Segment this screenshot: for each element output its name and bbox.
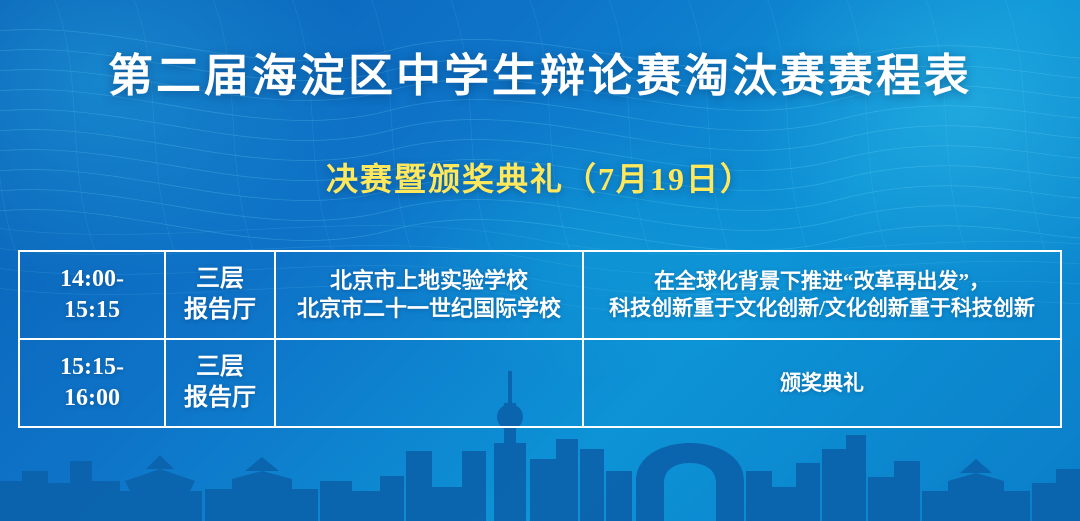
cell-time: 14:00- 15:15	[19, 251, 165, 339]
mesh-band-top	[0, 0, 1080, 250]
cell-time: 15:15- 16:00	[19, 339, 165, 427]
cell-schools: 北京市上地实验学校 北京市二十一世纪国际学校	[275, 251, 583, 339]
room-line-1: 三层	[170, 352, 270, 383]
title-block: 第二届海淀区中学生辩论赛淘汰赛赛程表	[0, 52, 1080, 102]
room-line-2: 报告厅	[170, 383, 270, 414]
time-line-1: 14:00-	[24, 264, 160, 295]
poster-canvas: 第二届海淀区中学生辩论赛淘汰赛赛程表 决赛暨颁奖典礼（7月19日）	[0, 0, 1080, 521]
table-row: 15:15- 16:00 三层 报告厅 颁奖典礼	[19, 339, 1061, 427]
glow-left	[0, 0, 360, 290]
room-line-2: 报告厅	[170, 295, 270, 326]
topic-line-1: 颁奖典礼	[588, 370, 1056, 397]
school-line-2: 北京市二十一世纪国际学校	[280, 295, 578, 323]
cell-room: 三层 报告厅	[165, 339, 275, 427]
page-title: 第二届海淀区中学生辩论赛淘汰赛赛程表	[0, 52, 1080, 102]
room-line-1: 三层	[170, 264, 270, 295]
topic-line-2: 科技创新重于文化创新/文化创新重于科技创新	[588, 295, 1056, 322]
topic-line-1: 在全球化背景下推进“改革再出发”，	[588, 268, 1056, 295]
schedule-table-container: 14:00- 15:15 三层 报告厅 北京市上地实验学校 北京市二十一世纪国际…	[18, 250, 1062, 428]
time-line-2: 15:15	[24, 295, 160, 326]
school-line-1: 北京市上地实验学校	[280, 267, 578, 295]
table-row: 14:00- 15:15 三层 报告厅 北京市上地实验学校 北京市二十一世纪国际…	[19, 251, 1061, 339]
cell-topic: 颁奖典礼	[583, 339, 1061, 427]
cell-topic: 在全球化背景下推进“改革再出发”， 科技创新重于文化创新/文化创新重于科技创新	[583, 251, 1061, 339]
time-line-1: 15:15-	[24, 352, 160, 383]
schedule-table: 14:00- 15:15 三层 报告厅 北京市上地实验学校 北京市二十一世纪国际…	[18, 250, 1062, 428]
page-subtitle: 决赛暨颁奖典礼（7月19日）	[0, 154, 1080, 200]
cell-room: 三层 报告厅	[165, 251, 275, 339]
cell-schools	[275, 339, 583, 427]
time-line-2: 16:00	[24, 383, 160, 414]
